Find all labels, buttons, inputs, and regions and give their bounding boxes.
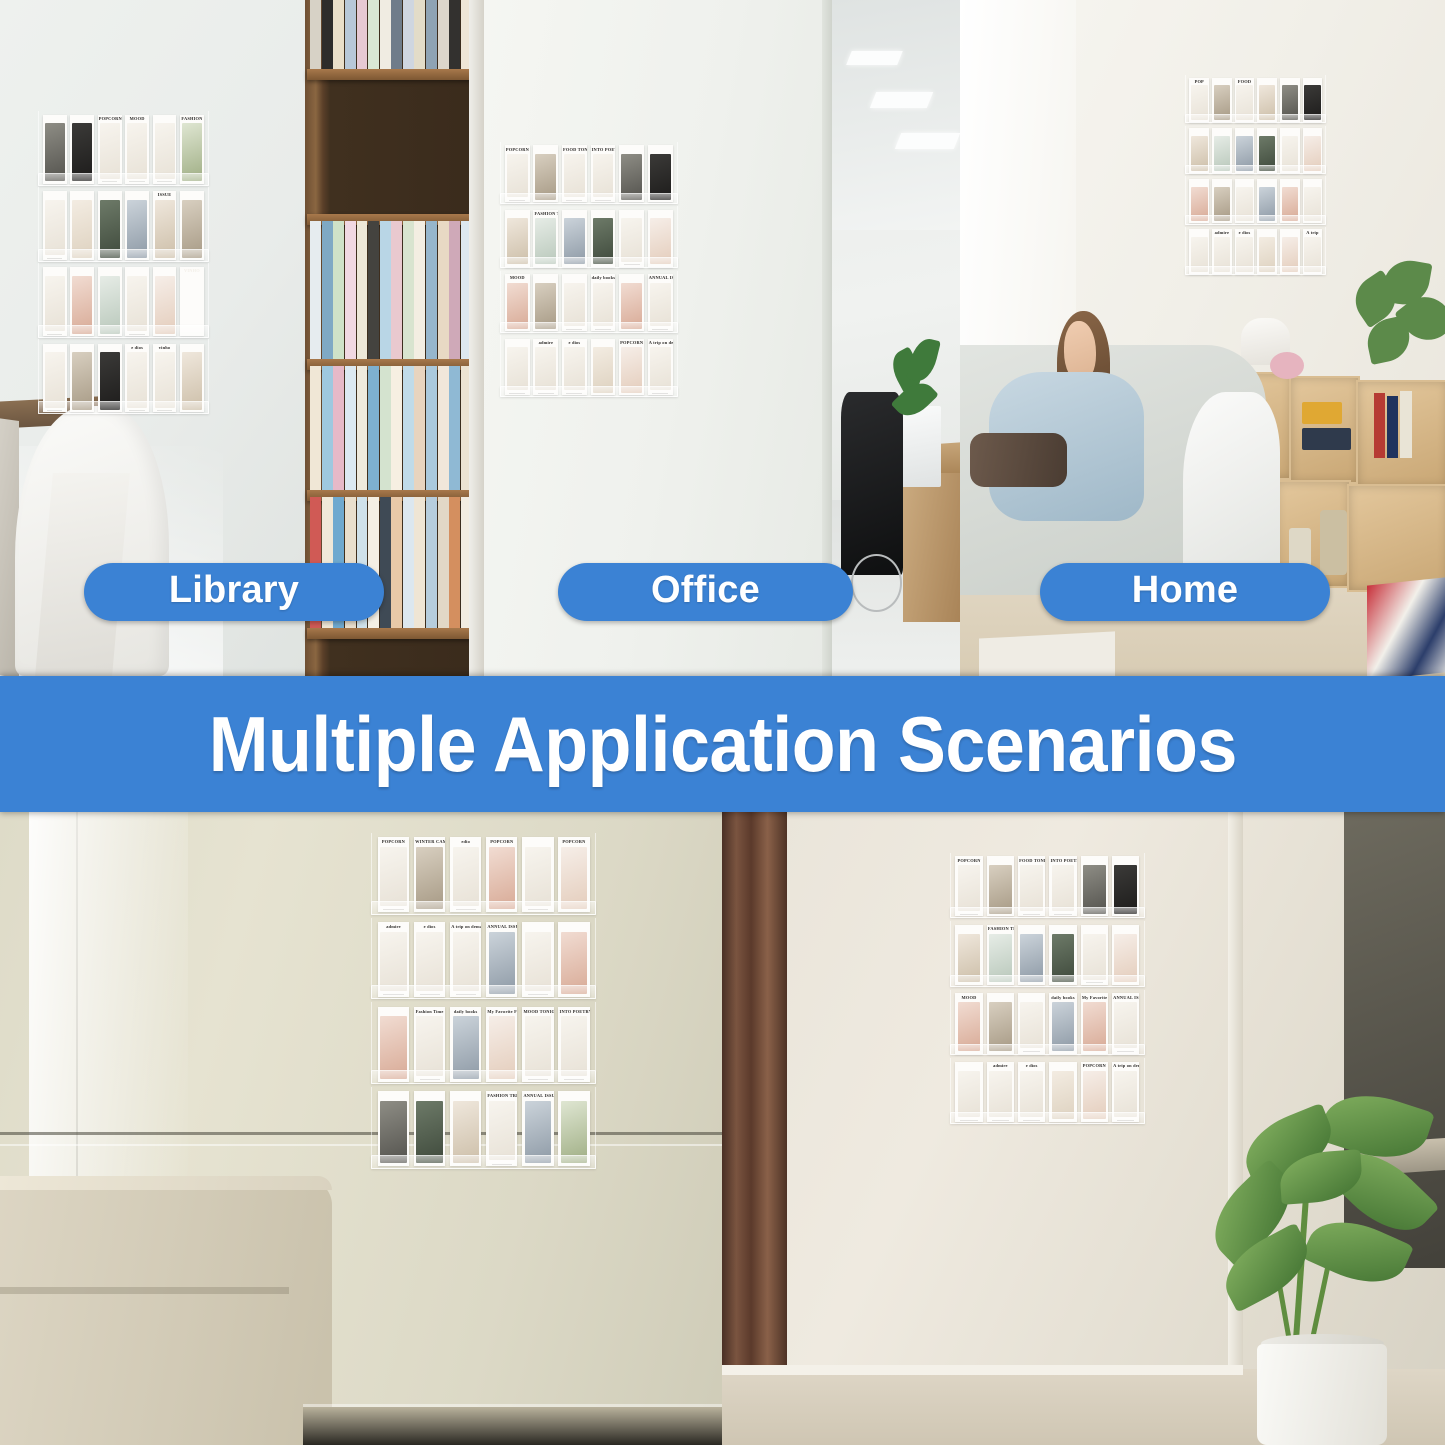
library-books-row bbox=[310, 0, 484, 69]
brochure-rack-library: POPCORN MOOD FASHION ISSUE bbox=[41, 115, 206, 412]
headline-banner-text: Multiple Application Scenarios bbox=[208, 705, 1236, 783]
cafe-photo: POPCORN WINTER CAMELS edio POPCORN POPCO… bbox=[0, 812, 722, 1445]
cafe-wall-seam-horizontal bbox=[0, 1132, 722, 1135]
home-magazines bbox=[1367, 577, 1445, 676]
scene-label-library[interactable]: Library bbox=[84, 563, 384, 621]
scenario-collage: POPCORN MOOD FASHION ISSUE bbox=[0, 0, 1445, 1445]
home-person-arm bbox=[970, 433, 1067, 487]
brochure-rack-restaurant: POPCORN FOOD TONIGHT INTO POETRY FASHION… bbox=[953, 856, 1141, 1122]
restaurant-curtain bbox=[722, 812, 787, 1407]
cafe-wall-seam-highlight bbox=[0, 1144, 722, 1146]
home-rug bbox=[979, 632, 1115, 676]
scene-label-home[interactable]: Home bbox=[1040, 563, 1330, 621]
scene-panel-office: POPCORN FOOD TONIGHT INTO POETRY FASHION… bbox=[484, 0, 960, 676]
restaurant-planter bbox=[1257, 1344, 1387, 1445]
library-books-row bbox=[310, 221, 484, 359]
restaurant-plant bbox=[1170, 1091, 1445, 1370]
scene-panel-library: POPCORN MOOD FASHION ISSUE bbox=[0, 0, 484, 676]
restaurant-photo: POPCORN FOOD TONIGHT INTO POETRY FASHION… bbox=[722, 812, 1445, 1445]
brochure-rack-cafe: POPCORN WINTER CAMELS edio POPCORN POPCO… bbox=[375, 837, 592, 1166]
office-cabinet bbox=[903, 473, 960, 622]
library-books-row bbox=[310, 366, 484, 490]
scene-label-office[interactable]: Office bbox=[558, 563, 853, 621]
scene-label-home-text: Home bbox=[1132, 571, 1238, 609]
headline-banner: Multiple Application Scenarios bbox=[0, 676, 1445, 812]
scene-label-library-text: Library bbox=[169, 571, 299, 609]
restaurant-baseboard bbox=[722, 1365, 1243, 1375]
scene-panel-restaurant: POPCORN FOOD TONIGHT INTO POETRY FASHION… bbox=[722, 812, 1445, 1445]
office-ceiling bbox=[831, 0, 960, 230]
office-chair-base bbox=[851, 554, 903, 612]
home-decor-flowers bbox=[1270, 352, 1304, 379]
home-plant bbox=[1348, 257, 1445, 406]
office-plant bbox=[889, 338, 946, 460]
brochure-rack-home: POP FOOD bbox=[1188, 78, 1324, 274]
scene-label-office-text: Office bbox=[651, 571, 760, 609]
cafe-base-shadow bbox=[303, 1407, 722, 1445]
scene-panel-home: POP FOOD bbox=[960, 0, 1445, 676]
cafe-counter-groove bbox=[0, 1287, 289, 1295]
cafe-counter bbox=[0, 1179, 332, 1445]
scene-panel-cafe: POPCORN WINTER CAMELS edio POPCORN POPCO… bbox=[0, 812, 722, 1445]
brochure-rack-office: POPCORN FOOD TONIGHT INTO POETRY FASHION… bbox=[503, 145, 674, 395]
library-right-edge bbox=[469, 0, 484, 676]
cafe-counter-top bbox=[0, 1176, 332, 1190]
